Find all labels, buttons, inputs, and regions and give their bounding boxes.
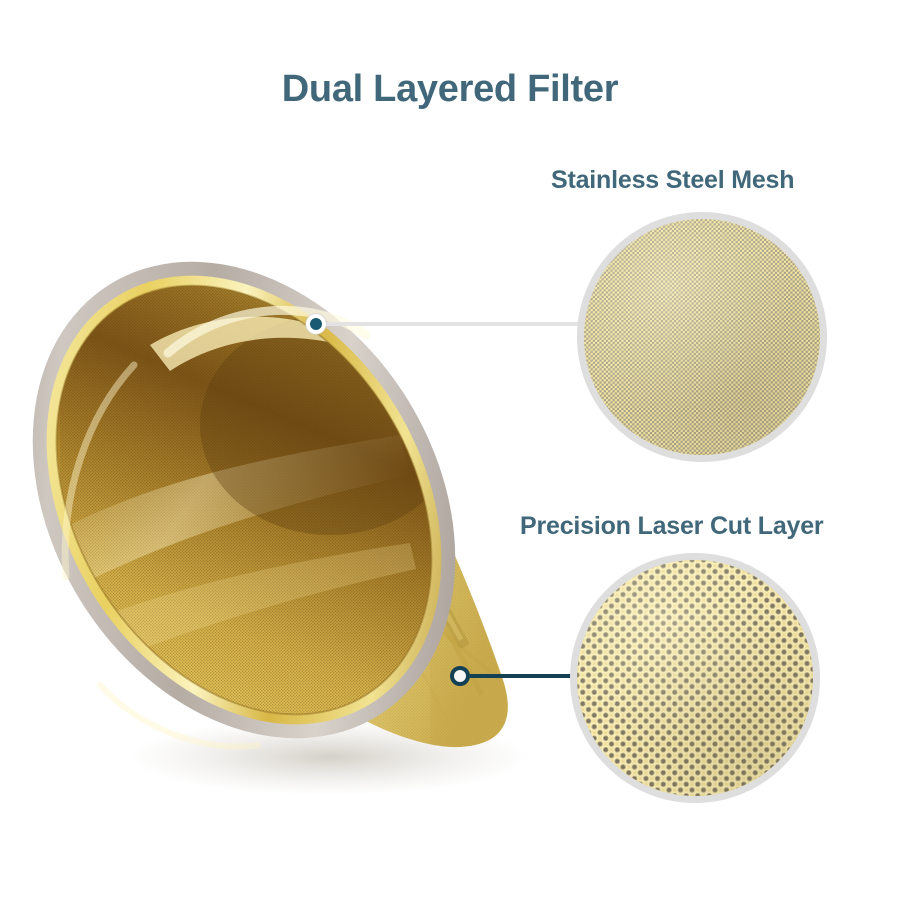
texture-swatch-perforated-holes [577, 560, 813, 796]
leader-marker-stainless-steel-mesh [306, 314, 326, 334]
zoom-circle-precision-laser-cut-layer [570, 553, 820, 803]
leader-line-stainless-steel-mesh [318, 322, 588, 326]
zoom-circle-stainless-steel-mesh [577, 212, 827, 462]
infographic-canvas: Dual Layered Filter [0, 0, 900, 900]
callout-label-precision-laser-cut-layer: Precision Laser Cut Layer [520, 512, 823, 541]
texture-swatch-woven-mesh [584, 219, 820, 455]
cone-filter-illustration [30, 225, 570, 805]
page-title: Dual Layered Filter [0, 68, 900, 111]
leader-marker-precision-laser-cut-layer [450, 666, 470, 686]
callout-label-stainless-steel-mesh: Stainless Steel Mesh [551, 166, 794, 195]
leader-line-precision-laser-cut-layer [462, 674, 582, 678]
product-image [30, 225, 570, 805]
